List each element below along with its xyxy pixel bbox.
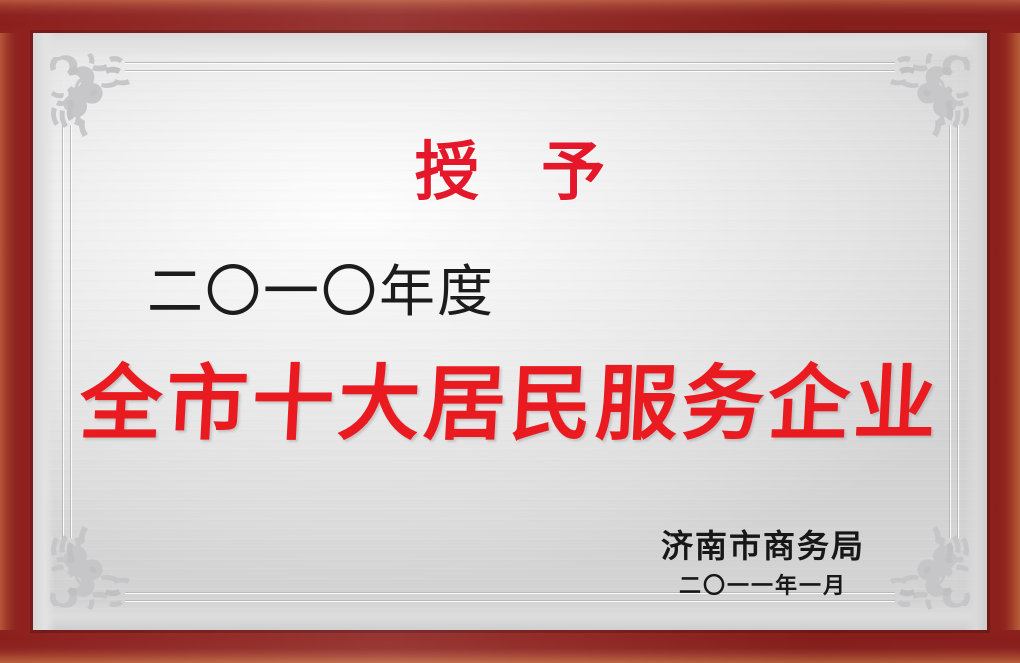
award-title: 全市十大居民服务企业	[33, 363, 987, 447]
plaque-plate: 授 予 二〇一〇年度 全市十大居民服务企业 济南市商务局 二〇一一年一月	[33, 33, 987, 630]
plaque-inscription: 授 予 二〇一〇年度 全市十大居民服务企业 济南市商务局 二〇一一年一月	[33, 33, 987, 630]
plaque-frame-bottom-rail	[0, 630, 1020, 663]
award-heading: 授 予	[33, 141, 987, 205]
plaque-frame-top-rail	[0, 0, 1020, 33]
award-plaque: 授 予 二〇一〇年度 全市十大居民服务企业 济南市商务局 二〇一一年一月	[0, 0, 1020, 663]
issue-date: 二〇一一年一月	[661, 574, 865, 599]
award-year-line: 二〇一〇年度	[147, 265, 495, 321]
issuer-organization: 济南市商务局	[661, 528, 865, 565]
issuer-signature-block: 济南市商务局 二〇一一年一月	[661, 528, 865, 599]
